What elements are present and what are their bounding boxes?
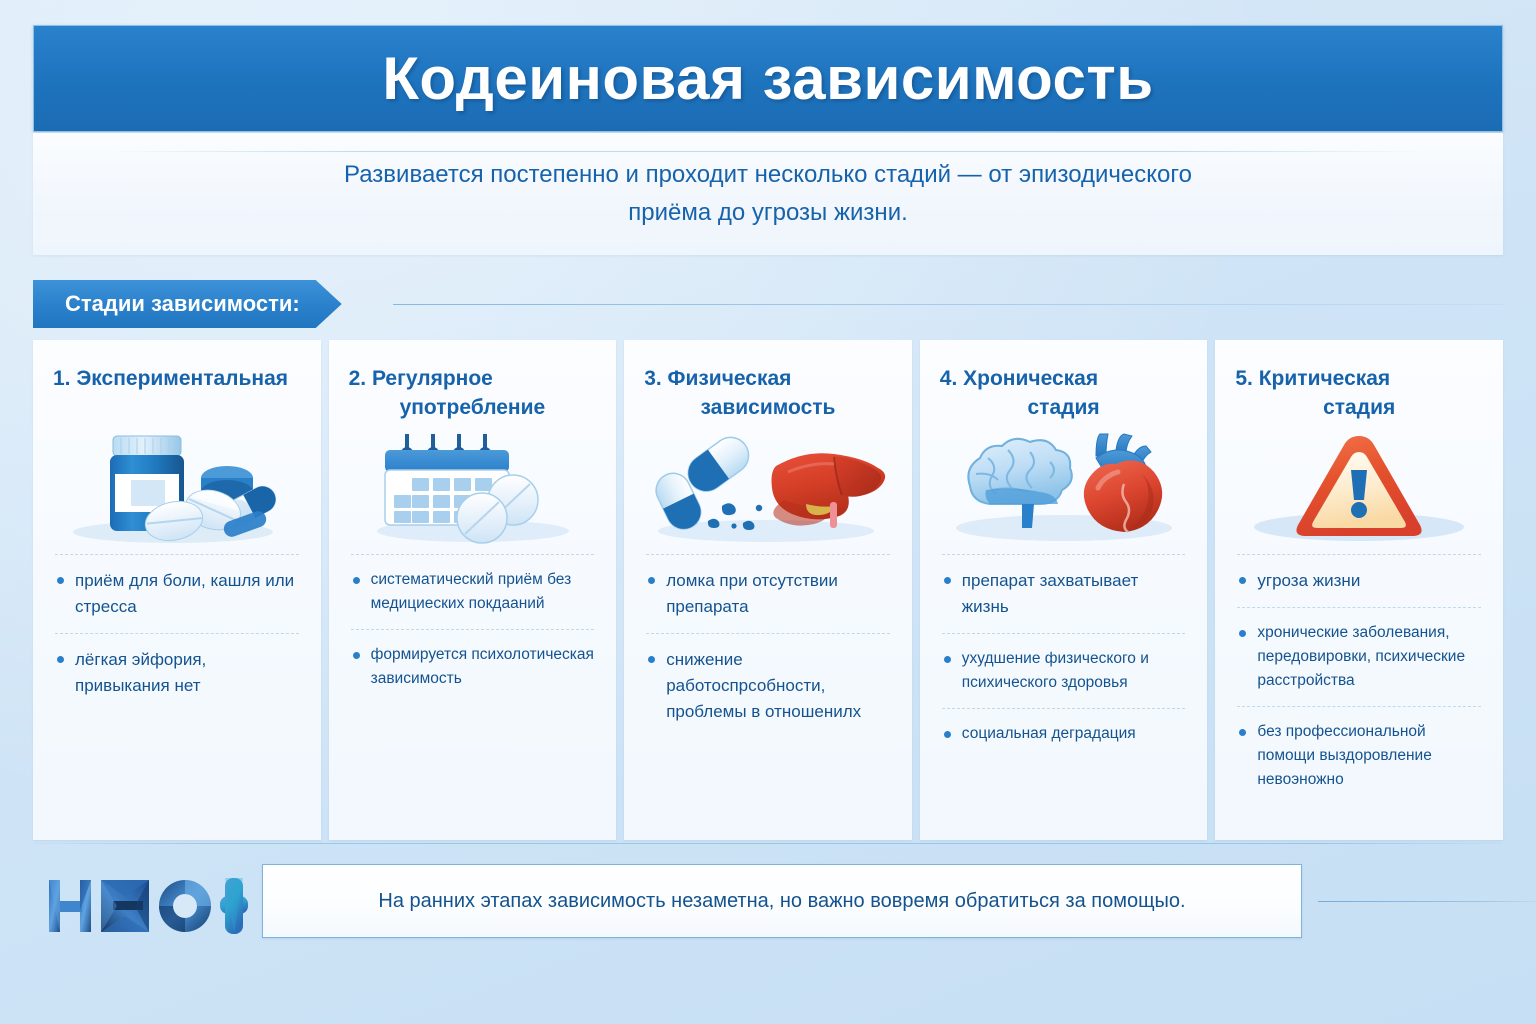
- footer-divider: [33, 843, 1503, 844]
- list-item: снижение работоспрсобности, проблемы в о…: [644, 634, 892, 738]
- stage-card-2-bullets: систематический приём без медициеских по…: [349, 554, 597, 704]
- bullet-text: ухудшение физического и психического здо…: [962, 647, 1186, 695]
- stage-card-2: 2. Регулярное употребление: [329, 340, 617, 840]
- stage-card-3-title-line1: 3. Физическая: [644, 367, 791, 390]
- bullet-text: формируется психолотическая зависимость: [371, 643, 595, 691]
- bullet-text: угроза жизни: [1257, 568, 1360, 594]
- bullet-dot-icon: [648, 656, 655, 663]
- stage-card-1: 1. Экспериментальная: [33, 340, 321, 840]
- bullet-dot-icon: [648, 577, 655, 584]
- bullet-text: снижение работоспрсобности, проблемы в о…: [666, 647, 890, 725]
- stage-card-4-title-line2: стадия: [940, 393, 1188, 422]
- bullet-text: препарат захватывает жизнь: [962, 568, 1186, 620]
- list-item: ухудшение физического и психического здо…: [940, 634, 1188, 708]
- pill-bottle-icon: [53, 426, 301, 544]
- bullet-dot-icon: [1239, 630, 1246, 637]
- list-item: препарат захватывает жизнь: [940, 555, 1188, 633]
- list-item: ломка при отсутствии препарата: [644, 555, 892, 633]
- subtitle-panel: Развивается постепенно и проходит нескол…: [33, 133, 1503, 255]
- bullet-text: лёгкая эйфория, привыкания нет: [75, 647, 299, 699]
- stage-card-1-title: 1. Экспериментальная: [53, 364, 301, 422]
- footer-tail-rule: [1318, 901, 1536, 902]
- stages-banner-area: Стадии зависимости:: [33, 280, 1503, 328]
- stage-card-5-title-line1: 5. Критическая: [1235, 367, 1390, 390]
- bullet-text: без профессиональной помощи выздоровлени…: [1257, 720, 1481, 792]
- stage-card-4: 4. Хроническая стадия: [920, 340, 1208, 840]
- calendar-pills-icon: [349, 426, 597, 544]
- subtitle-line-1: Развивается постепенно и проходит нескол…: [344, 156, 1192, 194]
- list-item: угроза жизни: [1235, 555, 1483, 607]
- bullet-dot-icon: [944, 731, 951, 738]
- stage-card-3: 3. Физическая зависимость: [624, 340, 912, 840]
- capsule-liver-icon: [644, 426, 892, 544]
- stage-card-5: 5. Критическая стадия: [1215, 340, 1503, 840]
- subtitle-divider: [103, 151, 1433, 152]
- header-bar: Кодеиновая зависимость: [33, 25, 1503, 132]
- stages-banner-label: Стадии зависимости:: [65, 291, 300, 317]
- stage-cards-row: 1. Экспериментальная: [33, 340, 1503, 840]
- list-item: приём для боли, кашля или стресса: [53, 555, 301, 633]
- footer-note-text: На ранних этапах зависимость незаметна, …: [378, 890, 1185, 913]
- stages-banner-rule: [393, 304, 1503, 305]
- bullet-dot-icon: [1239, 729, 1246, 736]
- stage-card-1-bullets: приём для боли, кашля или стресса лёгкая…: [53, 554, 301, 712]
- bullet-dot-icon: [57, 656, 64, 663]
- stage-card-5-title-line2: стадия: [1235, 393, 1483, 422]
- stage-card-1-title-line1: 1. Экспериментальная: [53, 367, 288, 390]
- stage-card-5-title: 5. Критическая стадия: [1235, 364, 1483, 422]
- infographic-poster: Кодеиновая зависимость Развивается посте…: [0, 0, 1536, 1024]
- list-item: формируется психолотическая зависимость: [349, 630, 597, 704]
- stage-card-2-title-line1: 2. Регулярное: [349, 367, 493, 390]
- bullet-text: приём для боли, кашля или стресса: [75, 568, 299, 620]
- stage-card-4-bullets: препарат захватывает жизнь ухудшение физ…: [940, 554, 1188, 759]
- stage-card-4-title-line1: 4. Хроническая: [940, 367, 1098, 390]
- brain-heart-icon: [940, 426, 1188, 544]
- footer-note: На ранних этапах зависимость незаметна, …: [262, 864, 1302, 938]
- list-item: хронические заболевания, передовировки, …: [1235, 608, 1483, 706]
- stage-card-3-bullets: ломка при отсутствии препарата снижение …: [644, 554, 892, 738]
- bullet-dot-icon: [944, 577, 951, 584]
- brand-logo: [45, 870, 250, 942]
- stages-banner: Стадии зависимости:: [33, 280, 342, 328]
- stage-card-2-title-line2: употребление: [349, 393, 597, 422]
- bullet-dot-icon: [944, 656, 951, 663]
- stage-card-3-title-line2: зависимость: [644, 393, 892, 422]
- bullet-text: систематический приём без медициеских по…: [371, 568, 595, 616]
- list-item: лёгкая эйфория, привыкания нет: [53, 634, 301, 712]
- subtitle-line-2: приёма до угрозы жизни.: [628, 194, 908, 232]
- stage-card-2-title: 2. Регулярное употребление: [349, 364, 597, 422]
- bullet-text: ломка при отсутствии препарата: [666, 568, 890, 620]
- bullet-text: социальная деградация: [962, 722, 1136, 746]
- stage-card-4-title: 4. Хроническая стадия: [940, 364, 1188, 422]
- bullet-dot-icon: [1239, 577, 1246, 584]
- page-title: Кодеиновая зависимость: [382, 44, 1153, 113]
- bullet-dot-icon: [57, 577, 64, 584]
- bullet-dot-icon: [353, 577, 360, 584]
- stage-card-5-bullets: угроза жизни хронические заболевания, пе…: [1235, 554, 1483, 805]
- bullet-dot-icon: [353, 652, 360, 659]
- warning-triangle-icon: [1235, 426, 1483, 544]
- list-item: систематический приём без медициеских по…: [349, 555, 597, 629]
- list-item: без профессиональной помощи выздоровлени…: [1235, 707, 1483, 805]
- bullet-text: хронические заболевания, передовировки, …: [1257, 621, 1481, 693]
- footer: На ранних этапах зависимость незаметна, …: [0, 840, 1536, 1024]
- stage-card-3-title: 3. Физическая зависимость: [644, 364, 892, 422]
- list-item: социальная деградация: [940, 709, 1188, 759]
